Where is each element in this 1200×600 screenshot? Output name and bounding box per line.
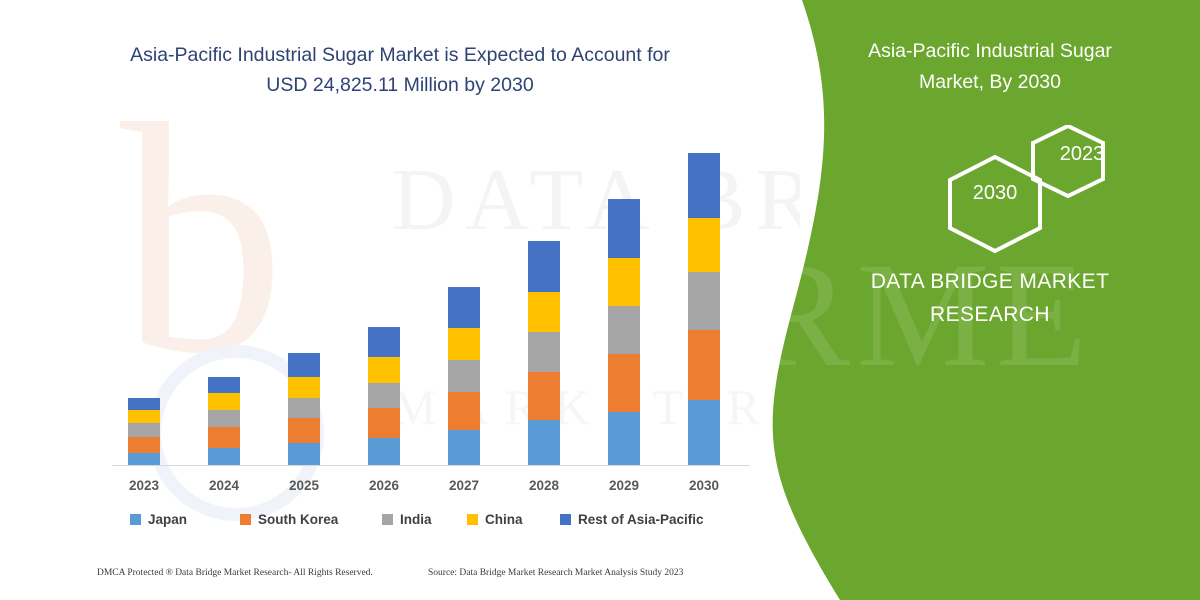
brand-panel: RME Asia-Pacific Industrial Sugar Market…: [740, 0, 1200, 600]
bar-segment-japan-2030: [688, 400, 720, 465]
bar-segment-japan-2024: [208, 448, 240, 465]
x-axis-label-2028: 2028: [514, 478, 574, 493]
bar-segment-rest-of-asia-pacific-2026: [368, 327, 400, 357]
bar-segment-india-2026: [368, 383, 400, 408]
brand-name: DATA BRIDGE MARKET RESEARCH: [800, 265, 1180, 331]
bar-segment-south-korea-2026: [368, 408, 400, 438]
bar-2023: [128, 398, 160, 465]
bar-segment-china-2023: [128, 410, 160, 423]
bar-2025: [288, 353, 320, 465]
legend-swatch-icon: [130, 514, 141, 525]
hexagon-2023-label: 2023: [1037, 143, 1127, 166]
bar-segment-rest-of-asia-pacific-2025: [288, 353, 320, 377]
chart-legend: JapanSouth KoreaIndiaChinaRest of Asia-P…: [112, 512, 752, 534]
bar-segment-china-2027: [448, 328, 480, 360]
legend-item-rest-of-asia-pacific[interactable]: Rest of Asia-Pacific: [560, 512, 704, 527]
bar-2029: [608, 199, 640, 465]
bar-segment-china-2024: [208, 393, 240, 410]
hexagon-group: 2023 2030: [825, 125, 1185, 270]
legend-swatch-icon: [240, 514, 251, 525]
bar-2028: [528, 241, 560, 465]
footer-copyright: DMCA Protected ® Data Bridge Market Rese…: [97, 568, 373, 578]
brand-name-line-2: RESEARCH: [930, 303, 1050, 326]
bar-segment-japan-2026: [368, 438, 400, 465]
bar-segment-japan-2028: [528, 420, 560, 465]
x-axis-label-2030: 2030: [674, 478, 734, 493]
brand-panel-title-line-1: Asia-Pacific Industrial Sugar: [868, 40, 1112, 62]
x-axis-label-2029: 2029: [594, 478, 654, 493]
bar-segment-china-2028: [528, 292, 560, 332]
bar-segment-india-2024: [208, 410, 240, 427]
bar-segment-rest-of-asia-pacific-2030: [688, 153, 720, 218]
legend-label: Japan: [148, 512, 187, 527]
bar-segment-rest-of-asia-pacific-2029: [608, 199, 640, 258]
infographic-canvas: b DATA BRIDGE MARKET RESEARCH Asia-Pacif…: [0, 0, 1200, 600]
bar-segment-rest-of-asia-pacific-2027: [448, 287, 480, 328]
brand-panel-title-line-2: Market, By 2030: [919, 71, 1061, 93]
bar-segment-south-korea-2030: [688, 330, 720, 400]
bar-segment-south-korea-2027: [448, 392, 480, 430]
legend-label: India: [400, 512, 432, 527]
bar-2026: [368, 327, 400, 465]
bar-segment-south-korea-2024: [208, 427, 240, 448]
x-axis-label-2025: 2025: [274, 478, 334, 493]
bar-segment-india-2027: [448, 360, 480, 392]
bar-segment-south-korea-2028: [528, 372, 560, 420]
bar-segment-india-2029: [608, 306, 640, 354]
bar-segment-china-2029: [608, 258, 640, 306]
x-axis-label-2023: 2023: [114, 478, 174, 493]
legend-item-south-korea[interactable]: South Korea: [240, 512, 338, 527]
brand-name-line-1: DATA BRIDGE MARKET: [871, 270, 1110, 293]
legend-swatch-icon: [467, 514, 478, 525]
x-axis-line: [112, 465, 750, 466]
bar-2024: [208, 377, 240, 465]
bar-segment-india-2023: [128, 423, 160, 437]
hexagon-2030-label: 2030: [950, 182, 1040, 205]
bar-segment-japan-2023: [128, 453, 160, 465]
brand-panel-title: Asia-Pacific Industrial Sugar Market, By…: [800, 36, 1180, 98]
legend-swatch-icon: [560, 514, 571, 525]
bar-segment-china-2030: [688, 218, 720, 272]
x-axis-label-2027: 2027: [434, 478, 494, 493]
legend-item-china[interactable]: China: [467, 512, 523, 527]
bar-2027: [448, 287, 480, 465]
legend-swatch-icon: [382, 514, 393, 525]
legend-item-japan[interactable]: Japan: [130, 512, 187, 527]
bar-segment-rest-of-asia-pacific-2028: [528, 241, 560, 292]
x-axis-label-2026: 2026: [354, 478, 414, 493]
bar-2030: [688, 153, 720, 465]
bar-segment-india-2030: [688, 272, 720, 330]
bar-segment-rest-of-asia-pacific-2024: [208, 377, 240, 393]
bar-segment-china-2026: [368, 357, 400, 383]
bar-segment-india-2025: [288, 398, 320, 418]
bar-segment-japan-2029: [608, 412, 640, 465]
x-axis-labels: 20232024202520262027202820292030: [0, 478, 800, 498]
footer-source: Source: Data Bridge Market Research Mark…: [428, 568, 683, 578]
bar-segment-japan-2027: [448, 430, 480, 465]
bar-segment-rest-of-asia-pacific-2023: [128, 398, 160, 410]
legend-label: South Korea: [258, 512, 338, 527]
bar-segment-south-korea-2025: [288, 418, 320, 443]
bar-segment-china-2025: [288, 377, 320, 398]
bar-segment-south-korea-2023: [128, 437, 160, 453]
footer: DMCA Protected ® Data Bridge Market Rese…: [0, 568, 800, 588]
stacked-bar-chart: 20232024202520262027202820292030: [0, 0, 800, 600]
bar-segment-india-2028: [528, 332, 560, 372]
legend-label: China: [485, 512, 523, 527]
bar-segment-japan-2025: [288, 443, 320, 465]
legend-item-india[interactable]: India: [382, 512, 432, 527]
bar-segment-south-korea-2029: [608, 354, 640, 412]
legend-label: Rest of Asia-Pacific: [578, 512, 704, 527]
x-axis-label-2024: 2024: [194, 478, 254, 493]
